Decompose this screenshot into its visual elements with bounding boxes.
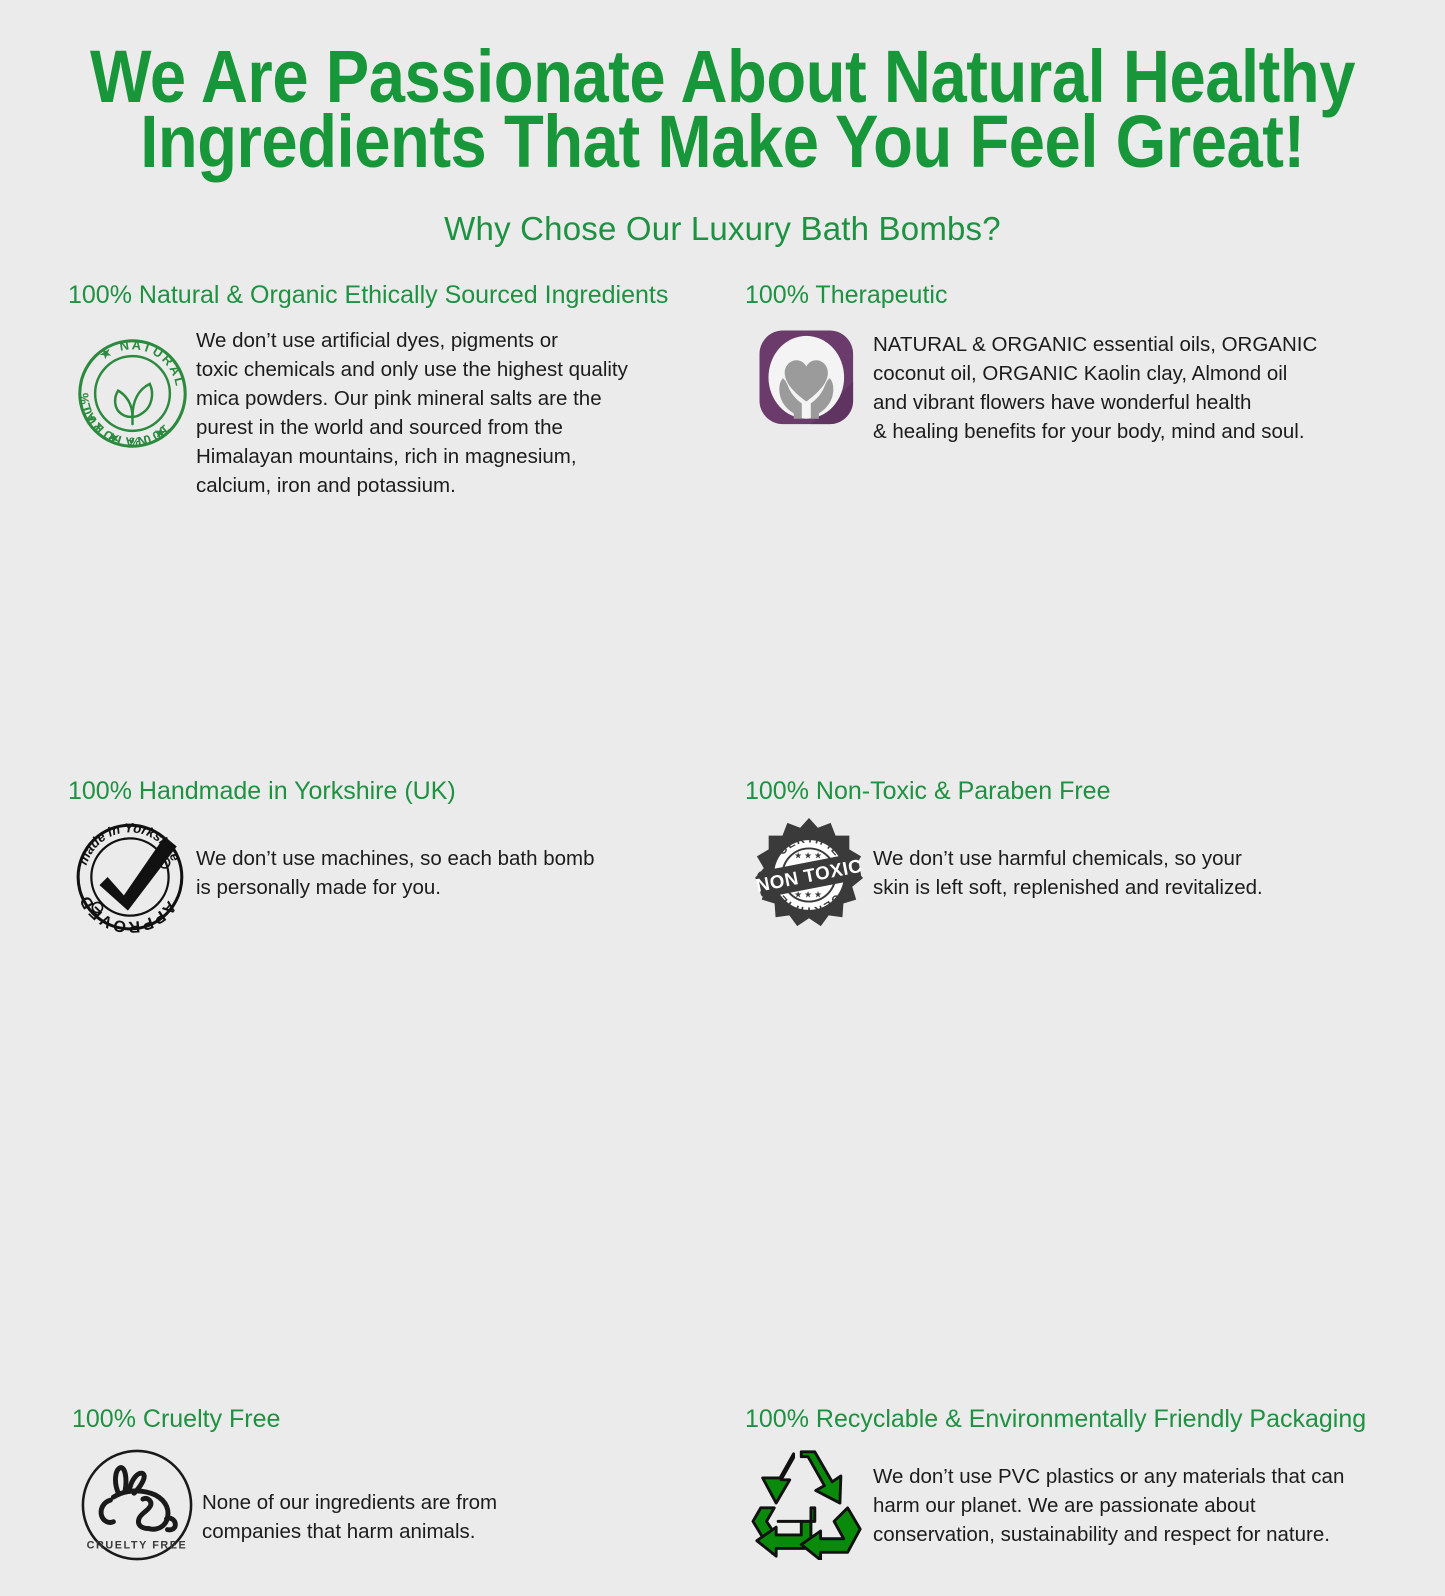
feature-heading: 100% Natural & Organic Ethically Sourced… [68, 282, 728, 310]
feature-handmade-yorkshire: 100% Handmade in Yorkshire (UK) made in … [68, 778, 728, 936]
feature-heading: 100% Non-Toxic & Paraben Free [745, 778, 1425, 806]
feature-body-text: NATURAL & ORGANIC essential oils, ORGANI… [873, 326, 1373, 446]
feature-body-text: We don’t use machines, so each bath bomb… [196, 814, 666, 902]
non-toxic-certified-seal-icon: ·CERTIFIED· ·CERTIFIED· ★★★ ★★★ NON TOXI… [745, 816, 873, 934]
cruelty-free-rabbit-icon: CRUELTY FREE [72, 1446, 202, 1564]
feature-natural-organic: 100% Natural & Organic Ethically Sourced… [68, 282, 728, 500]
cruelty-free-badge-label: CRUELTY FREE [87, 1539, 188, 1551]
features-grid: 100% Natural & Organic Ethically Sourced… [0, 282, 1445, 1596]
feature-non-toxic: 100% Non-Toxic & Paraben Free ·CERTIFIED [745, 778, 1425, 934]
natural-stamp-icon: ★ NATURAL ★ 100% ★ 100% ★ NATURAL ★ [68, 324, 196, 451]
feature-heading: 100% Cruelty Free [72, 1406, 692, 1434]
feature-cruelty-free: 100% Cruelty Free CRUELTY FREE [72, 1406, 692, 1564]
feature-therapeutic: 100% Therapeutic NATURAL & ORGANIC essen… [745, 282, 1425, 446]
feature-heading: 100% Therapeutic [745, 282, 1425, 310]
page-subtitle: Why Chose Our Luxury Bath Bombs? [0, 210, 1445, 248]
features-row-3: 100% Cruelty Free CRUELTY FREE [0, 1406, 1445, 1596]
svg-text:★★★: ★★★ [794, 889, 824, 899]
heart-in-hands-icon [745, 326, 873, 434]
feature-heading: 100% Handmade in Yorkshire (UK) [68, 778, 728, 806]
feature-recyclable: 100% Recyclable & Environmentally Friend… [745, 1406, 1435, 1560]
feature-body-text: We don’t use PVC plastics or any materia… [873, 1448, 1413, 1549]
page-title: We Are Passionate About Natural Healthy … [87, 0, 1359, 174]
features-row-2: 100% Handmade in Yorkshire (UK) made in … [0, 778, 1445, 968]
made-in-yorkshire-approved-stamp-icon: made in Yorkshire APPROVED [68, 814, 196, 936]
feature-body-text: None of our ingredients are from compani… [202, 1446, 632, 1546]
recycle-arrows-icon [745, 1448, 873, 1560]
features-row-1: 100% Natural & Organic Ethically Sourced… [0, 282, 1445, 530]
svg-text:★ NATURAL ★: ★ NATURAL ★ [75, 336, 189, 394]
feature-body-text: We don’t use harmful chemicals, so your … [873, 816, 1393, 902]
page-title-line-2: Ingredients That Make You Feel Great! [87, 109, 1359, 174]
feature-body-text: We don’t use artificial dyes, pigments o… [196, 324, 666, 501]
svg-text:★★★: ★★★ [794, 850, 824, 860]
feature-heading: 100% Recyclable & Environmentally Friend… [745, 1406, 1435, 1434]
